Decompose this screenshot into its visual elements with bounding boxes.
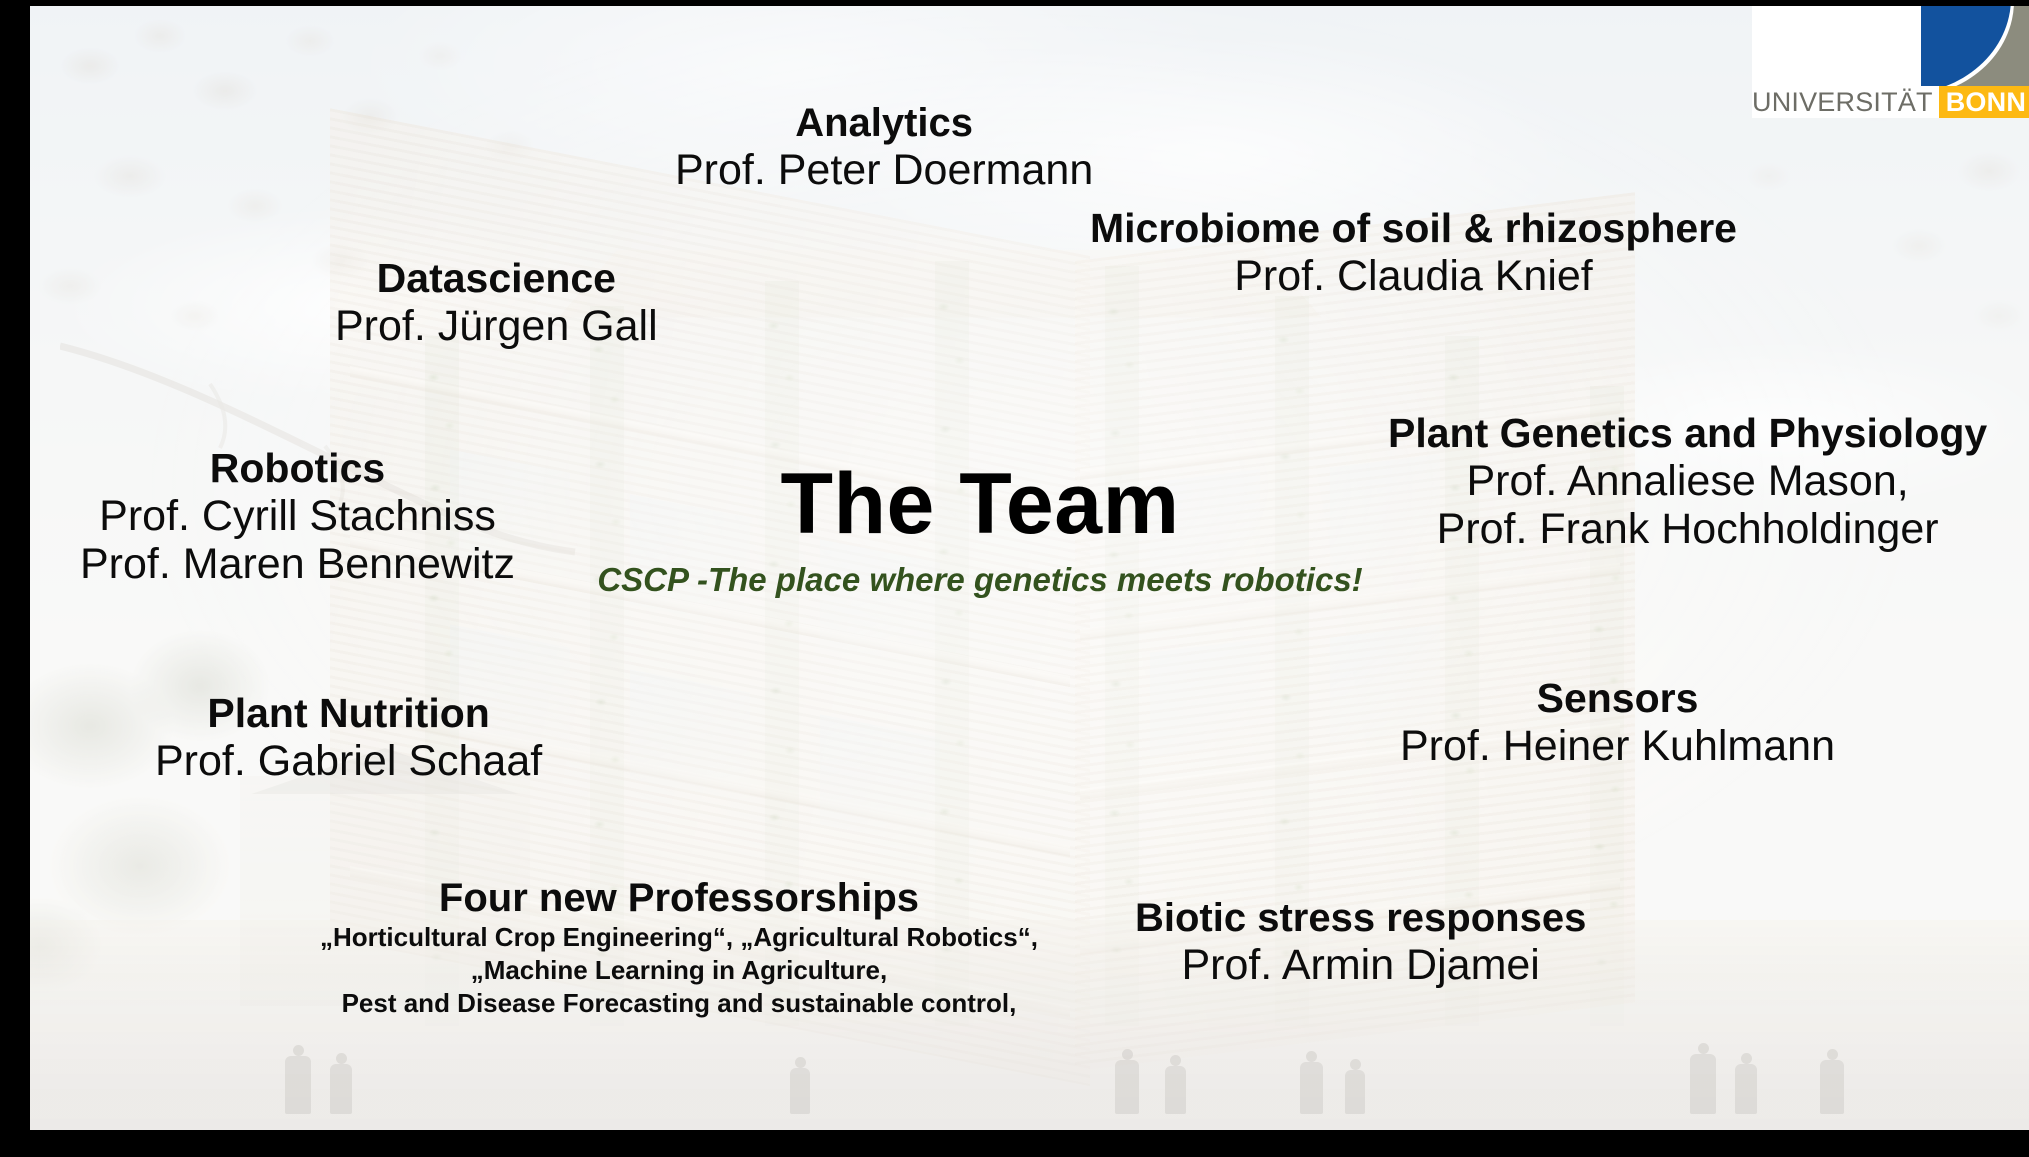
centre-title-group: The Team CSCP -The place where genetics …	[550, 461, 1410, 599]
person-silhouette	[1345, 1070, 1365, 1114]
group-analytics: Analytics Prof. Peter Doermann	[675, 101, 1093, 194]
logo-universitaet-text: UNIVERSITÄT	[1752, 86, 1939, 118]
person-silhouette	[1735, 1064, 1757, 1114]
group-sensors: Sensors Prof. Heiner Kuhlmann	[1400, 676, 1835, 770]
person-silhouette	[330, 1064, 352, 1114]
person-silhouette	[1115, 1060, 1139, 1114]
group-datascience-professor: Prof. Jürgen Gall	[335, 302, 658, 350]
logo-wordmark: UNIVERSITÄT BONN	[1752, 86, 2029, 118]
person-silhouette	[790, 1068, 810, 1114]
facade-vine	[1105, 266, 1139, 1026]
group-robotics: Robotics Prof. Cyrill Stachniss Prof. Ma…	[80, 446, 515, 588]
group-plant-nutrition-professor: Prof. Gabriel Schaaf	[155, 737, 542, 785]
window	[820, 714, 940, 847]
four-professorships-line-1: „Horticultural Crop Engineering“, „Agric…	[320, 921, 1038, 954]
group-microbiome: Microbiome of soil & rhizosphere Prof. C…	[1090, 206, 1737, 300]
group-biotic-stress-professor: Prof. Armin Djamei	[1135, 941, 1586, 989]
logo-bonn-text: BONN	[1939, 86, 2029, 118]
group-analytics-title: Analytics	[675, 101, 1093, 146]
group-robotics-title: Robotics	[80, 446, 515, 492]
group-robotics-professor-1: Prof. Cyrill Stachniss	[80, 492, 515, 540]
group-robotics-professor-2: Prof. Maren Bennewitz	[80, 540, 515, 588]
page-subtitle: CSCP -The place where genetics meets rob…	[550, 561, 1410, 599]
group-plant-genetics: Plant Genetics and Physiology Prof. Anna…	[1388, 411, 1987, 553]
group-plant-nutrition: Plant Nutrition Prof. Gabriel Schaaf	[155, 691, 542, 785]
group-plant-genetics-professor-1: Prof. Annaliese Mason,	[1388, 457, 1987, 505]
person-silhouette	[285, 1056, 311, 1114]
window	[630, 669, 750, 802]
person-silhouette	[1690, 1054, 1716, 1114]
group-plant-genetics-title: Plant Genetics and Physiology	[1388, 411, 1987, 457]
group-biotic-stress-title: Biotic stress responses	[1135, 896, 1586, 941]
group-datascience-title: Datascience	[335, 256, 658, 302]
group-four-new-professorships: Four new Professorships „Horticultural C…	[320, 876, 1038, 1021]
logo-blue-shape	[1921, 6, 2011, 86]
university-bonn-logo: UNIVERSITÄT BONN	[1752, 6, 2029, 118]
presentation-slide: UNIVERSITÄT BONN The Team CSCP -The plac…	[30, 6, 2029, 1130]
group-microbiome-professor: Prof. Claudia Knief	[1090, 252, 1737, 300]
group-datascience: Datascience Prof. Jürgen Gall	[335, 256, 658, 350]
group-biotic-stress: Biotic stress responses Prof. Armin Djam…	[1135, 896, 1586, 989]
four-professorships-title: Four new Professorships	[320, 876, 1038, 921]
group-sensors-professor: Prof. Heiner Kuhlmann	[1400, 722, 1835, 770]
screen: UNIVERSITÄT BONN The Team CSCP -The plac…	[0, 0, 2029, 1157]
group-microbiome-title: Microbiome of soil & rhizosphere	[1090, 206, 1737, 252]
page-title: The Team	[550, 461, 1410, 547]
group-plant-nutrition-title: Plant Nutrition	[155, 691, 542, 737]
group-sensors-title: Sensors	[1400, 676, 1835, 722]
logo-mark-icon	[1921, 6, 2029, 86]
four-professorships-line-3: Pest and Disease Forecasting and sustain…	[320, 987, 1038, 1020]
window	[1150, 639, 1260, 758]
person-silhouette	[1165, 1066, 1186, 1114]
group-analytics-professor: Prof. Peter Doermann	[675, 146, 1093, 194]
group-plant-genetics-professor-2: Prof. Frank Hochholdinger	[1388, 505, 1987, 553]
person-silhouette	[1820, 1060, 1844, 1114]
four-professorships-line-2: „Machine Learning in Agriculture,	[320, 954, 1038, 987]
person-silhouette	[1300, 1062, 1323, 1114]
